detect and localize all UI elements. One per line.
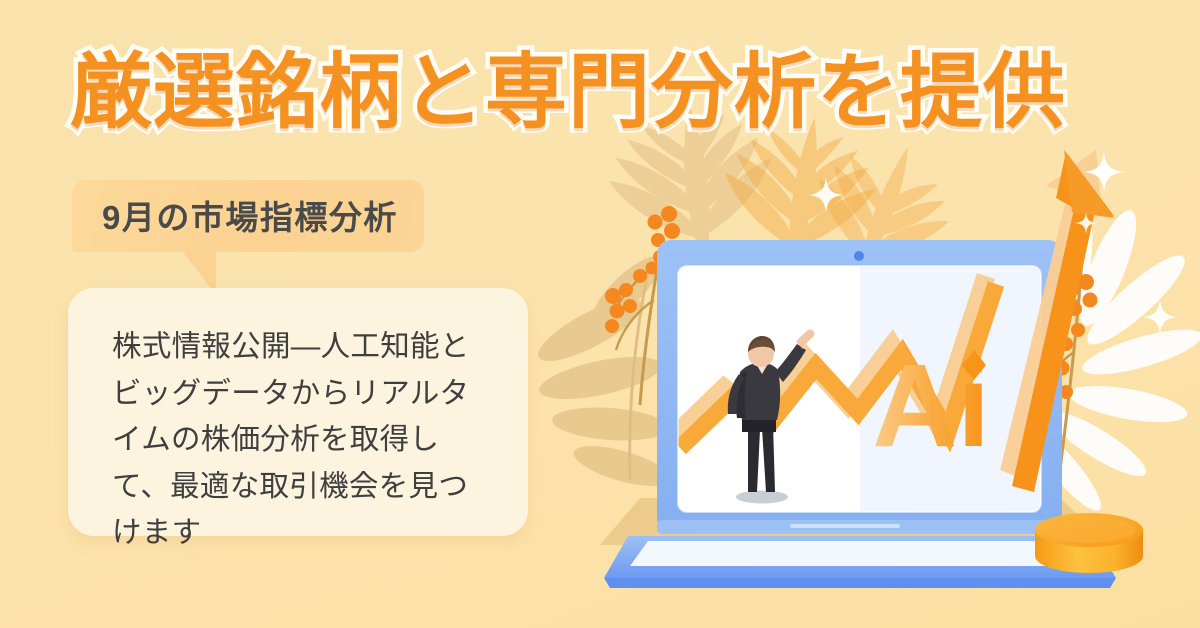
laptop-illustration: Ai [604, 240, 1116, 588]
ai-wordmark: Ai [872, 340, 990, 472]
berry-branch-left [605, 206, 682, 405]
gold-coin [1035, 513, 1143, 573]
laptop-shadow [600, 498, 1112, 548]
info-card: 株式情報公開—人工知能とビッグデータからリアルタイムの株価分析を取得して、最適な… [68, 288, 528, 536]
growth-arrow [1000, 150, 1114, 492]
palm-frond-orange-2 [797, 124, 967, 290]
growth-arrow-head [1056, 152, 1114, 216]
screen-right-panel [860, 266, 1041, 512]
laptop-bezel [657, 240, 1062, 532]
laptop-trackpad [630, 541, 1092, 566]
ai-letter-A: Ai [872, 340, 990, 472]
webcam-dot [854, 251, 864, 261]
screen-left-panel [678, 266, 860, 512]
leaf-cluster-tan-left [531, 247, 674, 494]
laptop-base [604, 536, 1116, 578]
growth-arrow-shaft [1012, 200, 1096, 492]
sparkle-top-right [1084, 152, 1124, 192]
sparkle-lower-right [1075, 212, 1097, 234]
promo-banner: Ai [0, 0, 1200, 628]
sparkle-mid-left [809, 178, 843, 212]
businessman-pointing [728, 330, 815, 504]
berry-branch-right [1037, 258, 1098, 470]
sparkle-right [1143, 300, 1177, 334]
chart-trend-line [680, 284, 996, 448]
leaf-cluster-white-right [1023, 199, 1200, 518]
ai-diamond-sparkle [962, 350, 986, 380]
laptop-hinge [657, 520, 1062, 534]
chart-trend-shadow [670, 276, 986, 440]
page-title: 厳選銘柄と専門分析を提供 [70, 52, 1140, 134]
status-badge: 9月の市場指標分析 [72, 180, 424, 252]
info-card-text: 株式情報公開—人工知能とビッグデータからリアルタイムの株価分析を取得して、最適な… [112, 324, 490, 557]
